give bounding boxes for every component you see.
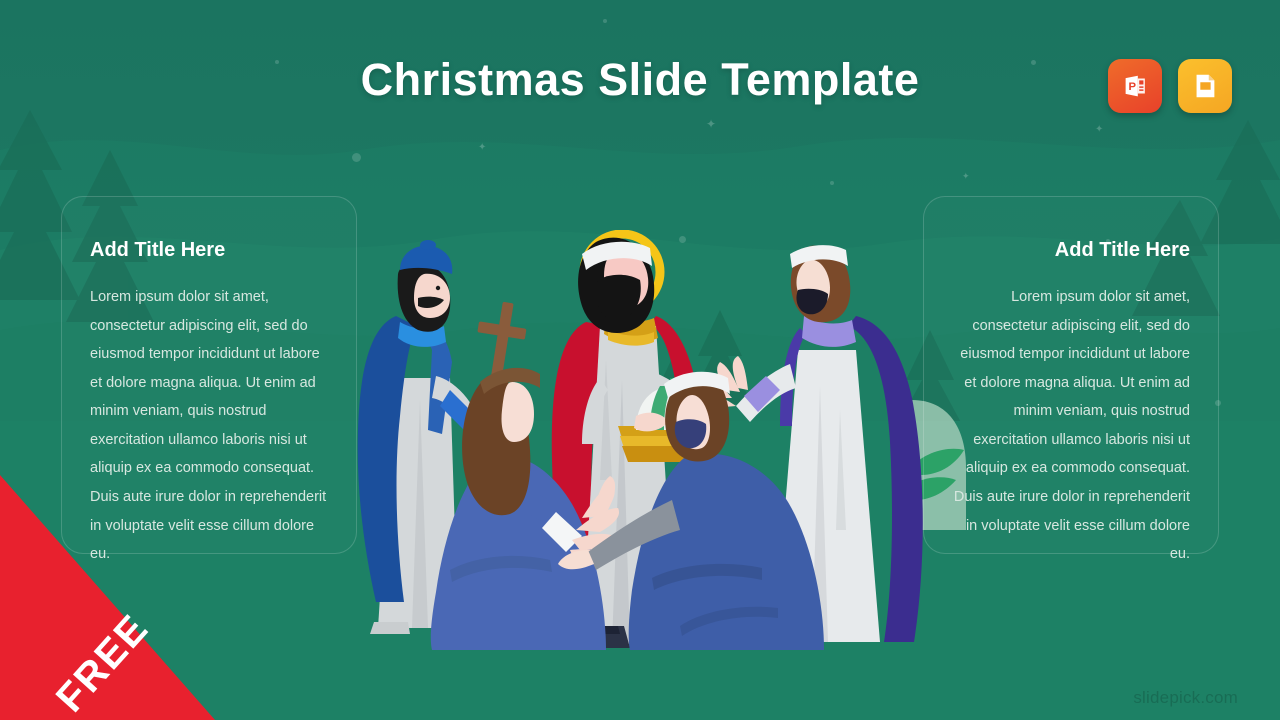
google-slides-glyph xyxy=(1190,71,1220,101)
christmas-slide-template: ✦ ✦ ✦ ✦ Christmas Slide Template P xyxy=(0,0,1280,720)
powerpoint-glyph: P xyxy=(1120,71,1150,101)
format-icons-group: P xyxy=(1108,59,1232,113)
text-card-right[interactable]: Add Title Here Lorem ipsum dolor sit ame… xyxy=(923,196,1219,554)
card-right-body: Lorem ipsum dolor sit amet, consectetur … xyxy=(952,283,1190,569)
watermark: slidepick.com xyxy=(1133,688,1238,708)
text-card-left[interactable]: Add Title Here Lorem ipsum dolor sit ame… xyxy=(61,196,357,554)
card-left-body: Lorem ipsum dolor sit amet, consectetur … xyxy=(90,283,328,569)
google-slides-icon[interactable] xyxy=(1178,59,1232,113)
powerpoint-icon[interactable]: P xyxy=(1108,59,1162,113)
svg-text:P: P xyxy=(1128,81,1136,93)
page-title: Christmas Slide Template xyxy=(0,54,1280,106)
card-right-title: Add Title Here xyxy=(952,239,1190,262)
card-left-title: Add Title Here xyxy=(90,239,328,262)
nativity-illustration xyxy=(300,230,1000,660)
